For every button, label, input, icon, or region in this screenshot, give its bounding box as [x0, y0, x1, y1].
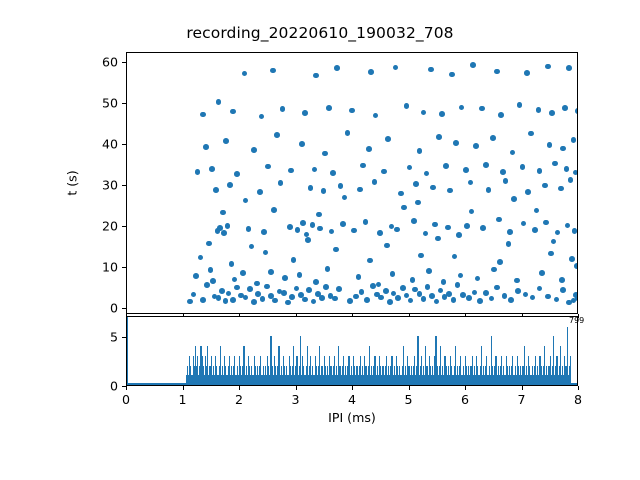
scatter-point	[223, 138, 229, 144]
scatter-point	[265, 164, 271, 170]
y-tick-mark	[122, 103, 126, 104]
scatter-plot-axes	[126, 52, 578, 314]
scatter-point	[206, 241, 212, 247]
scatter-point	[428, 67, 434, 73]
scatter-point	[426, 268, 432, 274]
scatter-point	[534, 208, 540, 214]
scatter-point	[278, 180, 284, 186]
scatter-point	[539, 270, 545, 276]
scatter-point	[259, 114, 265, 120]
scatter-point	[443, 163, 449, 169]
scatter-point	[452, 254, 458, 260]
scatter-point	[317, 226, 323, 232]
scatter-point	[490, 135, 496, 141]
scatter-point	[451, 297, 457, 303]
scatter-point	[383, 288, 389, 294]
scatter-point	[536, 107, 542, 113]
scatter-point	[229, 261, 235, 267]
scatter-point	[498, 112, 504, 118]
scatter-point	[542, 183, 548, 189]
scatter-point	[295, 227, 301, 233]
scatter-point	[213, 187, 219, 193]
scatter-point	[230, 109, 236, 115]
scatter-point	[560, 287, 566, 293]
scatter-point	[436, 134, 442, 140]
y-tick-label: 0	[84, 379, 118, 394]
scatter-point	[439, 111, 445, 117]
scatter-point	[398, 191, 404, 197]
scatter-point	[453, 140, 459, 146]
scatter-point	[325, 266, 331, 272]
scatter-point	[407, 165, 413, 171]
scatter-point	[210, 278, 216, 284]
scatter-point	[411, 218, 417, 224]
scatter-point	[413, 181, 419, 187]
scatter-point	[308, 185, 314, 191]
scatter-point	[543, 220, 549, 226]
scatter-point	[572, 228, 577, 234]
x-tick-mark	[522, 386, 523, 390]
scatter-point	[552, 161, 558, 167]
scatter-point	[200, 297, 206, 303]
scatter-point	[338, 183, 344, 189]
scatter-point	[347, 298, 353, 304]
scatter-point	[240, 270, 246, 276]
scatter-point	[528, 131, 534, 137]
scatter-point	[472, 290, 478, 296]
scatter-point	[555, 230, 561, 236]
scatter-point	[469, 209, 475, 215]
scatter-point	[285, 300, 291, 306]
scatter-point	[569, 256, 575, 262]
y-tick-label: 50	[84, 96, 118, 111]
scatter-point	[342, 195, 348, 201]
x-tick-mark	[296, 386, 297, 390]
scatter-point	[225, 223, 231, 229]
scatter-point	[566, 65, 572, 71]
scatter-point	[387, 299, 393, 305]
scatter-point	[216, 295, 222, 301]
scatter-point	[209, 166, 215, 172]
scatter-point	[574, 263, 577, 269]
scatter-point	[345, 130, 351, 136]
scatter-point	[336, 286, 342, 292]
scatter-point	[455, 282, 461, 288]
scatter-point	[510, 150, 516, 156]
scatter-point	[479, 106, 485, 112]
y-tick-mark	[122, 308, 126, 309]
scatter-point	[280, 106, 286, 112]
scatter-point	[447, 188, 453, 194]
scatter-point	[370, 283, 376, 289]
scatter-point	[340, 221, 346, 227]
scatter-point	[497, 259, 503, 265]
x-tick-label: 0	[122, 392, 130, 407]
scatter-point	[449, 72, 455, 78]
scatter-point	[560, 146, 566, 152]
scatter-point	[503, 178, 509, 184]
scatter-point	[376, 282, 382, 288]
scatter-point	[312, 167, 318, 173]
scatter-point	[330, 170, 336, 176]
scatter-point	[282, 275, 288, 281]
y-axis-label-scatter: t (s)	[65, 170, 80, 195]
scatter-point	[373, 113, 379, 119]
scatter-points-layer	[127, 53, 577, 313]
scatter-point	[506, 241, 512, 247]
x-axis-label-histogram: IPI (ms)	[328, 410, 376, 425]
scatter-point	[434, 299, 440, 305]
x-tick-mark	[126, 386, 127, 390]
scatter-point	[470, 62, 476, 68]
scatter-point	[438, 288, 444, 294]
scatter-point	[511, 196, 517, 202]
scatter-point	[319, 295, 325, 301]
scatter-point	[299, 141, 305, 147]
scatter-point	[220, 210, 226, 216]
scatter-point	[363, 219, 369, 225]
scatter-point	[272, 298, 278, 304]
scatter-point	[562, 105, 568, 111]
scatter-point	[429, 293, 435, 299]
scatter-point	[381, 169, 387, 175]
scatter-point	[480, 225, 486, 231]
y-tick-mark	[122, 337, 126, 338]
scatter-point	[384, 243, 390, 249]
scatter-point	[486, 187, 492, 193]
scatter-point	[193, 273, 199, 279]
y-tick-mark	[122, 144, 126, 145]
scatter-point	[321, 188, 327, 194]
scatter-point	[242, 71, 248, 77]
scatter-point	[401, 205, 407, 211]
x-tick-label: 1	[178, 392, 186, 407]
scatter-point	[558, 186, 564, 192]
x-tick-mark	[578, 386, 579, 390]
x-tick-mark	[409, 386, 410, 390]
scatter-point	[537, 168, 543, 174]
scatter-point	[464, 223, 470, 229]
scatter-point	[500, 169, 506, 175]
scatter-point	[473, 143, 479, 149]
y-tick-mark	[122, 226, 126, 227]
scatter-point	[329, 229, 335, 235]
scatter-point	[378, 295, 384, 301]
scatter-point	[302, 110, 308, 116]
scatter-point	[502, 293, 508, 299]
scatter-point	[310, 222, 316, 228]
scatter-point	[575, 295, 577, 301]
scatter-point	[305, 237, 311, 243]
scatter-point	[441, 279, 447, 285]
scatter-point	[367, 258, 373, 264]
scatter-point	[353, 294, 359, 300]
scatter-point	[191, 292, 197, 298]
scatter-point	[289, 294, 295, 300]
scatter-point	[243, 198, 249, 204]
scatter-point	[271, 207, 277, 213]
scatter-point	[270, 68, 276, 74]
scatter-point	[264, 284, 270, 290]
scatter-point	[221, 230, 227, 236]
scatter-point	[564, 166, 570, 172]
scatter-point	[234, 285, 240, 291]
y-tick-mark	[122, 185, 126, 186]
scatter-point	[200, 112, 206, 118]
scatter-point	[287, 224, 293, 230]
scatter-point	[463, 167, 469, 173]
scatter-point	[247, 286, 253, 292]
scatter-point	[313, 279, 319, 285]
scatter-point	[575, 108, 577, 114]
scatter-point	[520, 164, 526, 170]
scatter-point	[313, 73, 319, 79]
scatter-point	[417, 148, 423, 154]
scatter-point	[216, 99, 222, 105]
scatter-point	[385, 136, 391, 142]
scatter-point	[390, 271, 396, 277]
scatter-point	[297, 272, 303, 278]
x-tick-mark	[352, 386, 353, 390]
scatter-point	[306, 287, 312, 293]
scatter-point	[475, 276, 481, 282]
x-tick-mark	[465, 386, 466, 390]
scatter-point	[532, 227, 538, 233]
scatter-point	[356, 274, 362, 280]
scatter-point	[421, 296, 427, 302]
scatter-point	[251, 147, 257, 153]
scatter-point	[291, 257, 297, 263]
scatter-point	[395, 295, 401, 301]
scatter-point	[288, 168, 294, 174]
scatter-point	[281, 290, 287, 296]
scatter-point	[260, 296, 266, 302]
scatter-point	[400, 285, 406, 291]
y-tick-mark	[122, 267, 126, 268]
scatter-point	[311, 299, 317, 305]
scatter-point	[445, 225, 451, 231]
scatter-point	[423, 231, 429, 237]
scatter-point	[524, 70, 530, 76]
scatter-point	[573, 170, 577, 176]
x-tick-mark	[239, 386, 240, 390]
scatter-point	[257, 189, 263, 195]
scatter-point	[195, 169, 201, 175]
scatter-point	[234, 171, 240, 177]
scatter-point	[430, 185, 436, 191]
scatter-point	[263, 250, 269, 256]
scatter-point	[226, 291, 232, 297]
y-tick-label: 40	[84, 137, 118, 152]
scatter-point	[507, 229, 513, 235]
scatter-point	[357, 187, 363, 193]
y-tick-label: 30	[84, 178, 118, 193]
scatter-point	[425, 284, 431, 290]
histogram-baseline	[127, 383, 577, 385]
scatter-point	[230, 297, 236, 303]
scatter-point	[517, 102, 523, 108]
scatter-point	[302, 297, 308, 303]
page-title: recording_20220610_190032_708	[0, 24, 640, 42]
scatter-point	[421, 110, 427, 116]
scatter-point	[515, 288, 521, 294]
scatter-point	[323, 284, 329, 290]
scatter-point	[243, 295, 249, 301]
scatter-point	[198, 255, 204, 261]
scatter-point	[547, 142, 553, 148]
scatter-point	[251, 299, 257, 305]
matplotlib-figure: recording_20220610_190032_708 0102030405…	[0, 0, 640, 480]
scatter-point	[294, 286, 300, 292]
scatter-point	[466, 295, 472, 301]
scatter-point	[554, 297, 560, 303]
scatter-point	[364, 297, 370, 303]
scatter-point	[548, 251, 554, 257]
y-tick-mark	[122, 62, 126, 63]
x-tick-label: 4	[348, 392, 356, 407]
scatter-point	[393, 65, 399, 71]
scatter-point	[261, 229, 267, 235]
y-tick-label: 20	[84, 218, 118, 233]
scatter-point	[568, 177, 574, 183]
scatter-point	[246, 226, 252, 232]
scatter-point	[208, 267, 214, 273]
scatter-point	[322, 151, 328, 157]
scatter-point	[377, 230, 383, 236]
scatter-point	[203, 144, 209, 150]
y-tick-label: 10	[84, 259, 118, 274]
scatter-point	[219, 288, 225, 294]
histogram-axes	[126, 316, 578, 386]
scatter-point	[333, 247, 339, 253]
x-tick-label: 2	[235, 392, 243, 407]
scatter-point	[223, 298, 229, 304]
scatter-point	[468, 180, 474, 186]
x-tick-label: 6	[461, 392, 469, 407]
x-tick-label: 3	[291, 392, 299, 407]
scatter-point	[496, 217, 502, 223]
scatter-point	[418, 253, 424, 259]
y-tick-label: 0	[84, 300, 118, 315]
x-tick-mark	[183, 386, 184, 390]
scatter-point	[394, 227, 400, 233]
scatter-point	[523, 292, 529, 298]
x-tick-label: 5	[404, 392, 412, 407]
scatter-point	[404, 103, 410, 109]
scatter-point	[525, 189, 531, 195]
scatter-point	[545, 64, 551, 70]
histogram-bars-layer	[127, 317, 577, 385]
scatter-point	[249, 244, 255, 250]
scatter-point	[549, 110, 555, 116]
clipped-bar-value-annotation: 799	[569, 316, 584, 325]
scatter-point	[458, 273, 464, 279]
scatter-point	[494, 285, 500, 291]
scatter-point	[359, 289, 365, 295]
scatter-point	[351, 228, 357, 234]
y-tick-label: 5	[84, 330, 118, 345]
scatter-point	[559, 277, 565, 283]
scatter-point	[521, 221, 527, 227]
scatter-point	[410, 277, 416, 283]
scatter-point	[232, 277, 238, 283]
x-tick-label: 8	[574, 392, 582, 407]
scatter-point	[334, 65, 340, 71]
scatter-point	[491, 267, 497, 273]
scatter-point	[545, 294, 551, 300]
scatter-point	[408, 298, 414, 304]
scatter-point	[483, 162, 489, 168]
scatter-point	[415, 200, 421, 206]
scatter-point	[537, 286, 543, 292]
scatter-point	[254, 281, 260, 287]
scatter-point	[435, 236, 441, 242]
scatter-point	[332, 296, 338, 302]
scatter-point	[551, 239, 557, 245]
scatter-point	[514, 278, 520, 284]
y-tick-label: 60	[84, 55, 118, 70]
scatter-point	[456, 232, 462, 238]
scatter-point	[187, 299, 193, 305]
scatter-point	[349, 108, 355, 114]
scatter-point	[508, 297, 514, 303]
scatter-point	[459, 105, 465, 111]
scatter-point	[227, 182, 233, 188]
scatter-point	[300, 220, 306, 226]
x-tick-label: 7	[517, 392, 525, 407]
scatter-point	[571, 137, 577, 143]
scatter-point	[326, 105, 332, 111]
scatter-point	[565, 223, 571, 229]
histogram-bar	[127, 317, 128, 385]
scatter-point	[316, 212, 322, 218]
scatter-point	[489, 296, 495, 302]
scatter-point	[366, 146, 372, 152]
scatter-point	[268, 269, 274, 275]
scatter-point	[368, 69, 374, 75]
scatter-point	[494, 69, 500, 75]
histogram-bar	[570, 356, 571, 385]
scatter-point	[204, 282, 210, 288]
scatter-point	[477, 298, 483, 304]
scatter-point	[274, 132, 280, 138]
scatter-point	[483, 290, 489, 296]
scatter-point	[424, 171, 430, 177]
scatter-point	[530, 295, 536, 301]
scatter-point	[360, 163, 366, 169]
scatter-point	[432, 222, 438, 228]
scatter-point	[372, 179, 378, 185]
scatter-point	[446, 291, 452, 297]
